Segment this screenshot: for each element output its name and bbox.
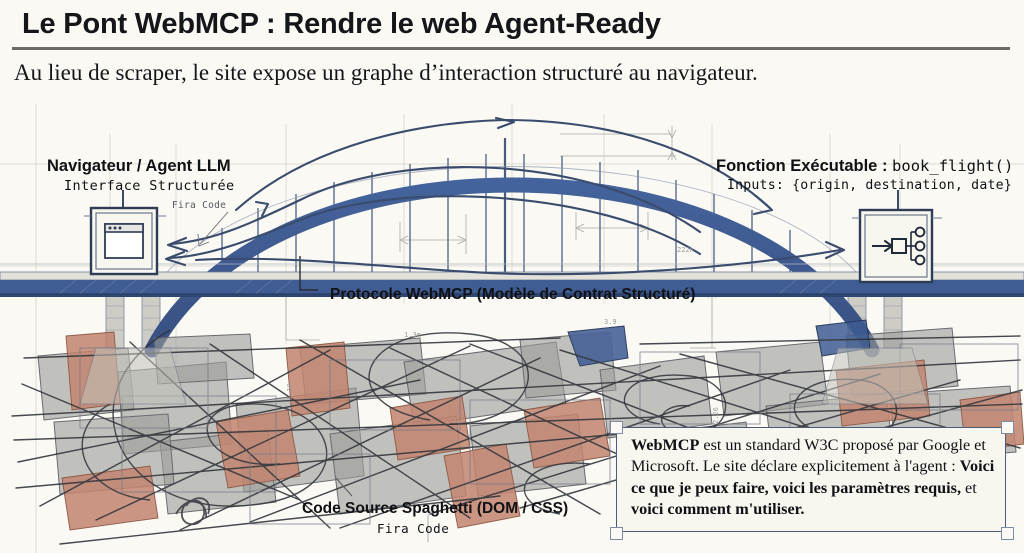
callout-box: WebMCP est un standard W3C proposé par G… [616,427,1006,532]
callout-part4: et [961,479,977,497]
fira-code-annotation: Fira Code [172,200,226,211]
callout-part5: voici comment m'utiliser. [631,500,804,518]
dimension-label-39: 3.9 [604,318,617,326]
chaos-sublabel: Fira Code [377,521,449,536]
callout-corner-top-left [610,421,623,434]
right-node-title-mono: book_flight() [892,157,1013,175]
callout-corner-bottom-right [1001,527,1014,540]
page-subtitle: Au lieu de scraper, le site expose un gr… [14,60,758,86]
dimension-label-vertical-right: 2.26 [712,407,720,424]
callout-text: WebMCP est un standard W3C proposé par G… [631,435,995,521]
slide-root: Le Pont WebMCP : Rendre le web Agent-Rea… [0,0,1024,553]
right-node-subtitle: Inputs: {origin, destination, date} [727,178,1012,193]
callout-corner-bottom-left [610,527,623,540]
chaos-label: Code Source Spaghetti (DOM / CSS) [302,500,568,518]
dimension-label-vertical-left: 1.10 [286,383,294,400]
title-divider [12,47,1010,50]
deck-protocol-label: Protocole WebMCP (Modèle de Contrat Stru… [330,286,695,304]
page-title: Le Pont WebMCP : Rendre le web Agent-Rea… [22,8,661,41]
left-node-subtitle: Interface Structurée [64,178,235,194]
dimension-label-13m: 1.3m [404,331,421,339]
dimension-label-222h: 222h [677,246,694,254]
slide-header: Le Pont WebMCP : Rendre le web Agent-Rea… [0,0,1024,104]
right-node-title-bold: Fonction Exécutable : [716,157,892,175]
left-node-title: Navigateur / Agent LLM [47,157,231,176]
right-node-title: Fonction Exécutable : book_flight() [716,157,1013,176]
callout-part1: WebMCP [631,436,699,454]
callout-corner-top-right [1001,421,1014,434]
